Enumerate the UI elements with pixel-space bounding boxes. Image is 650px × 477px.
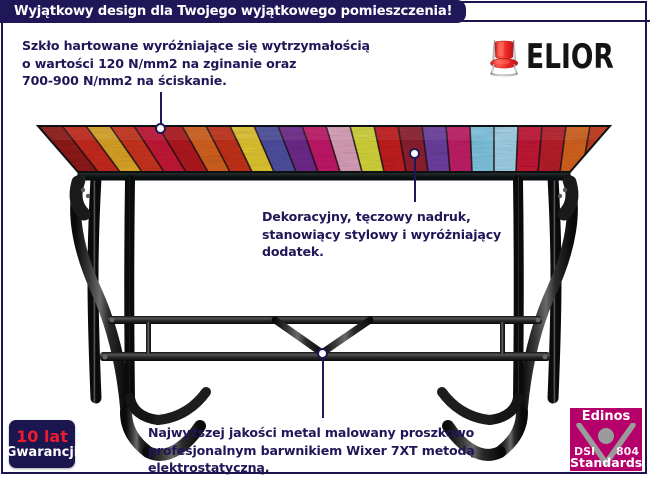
callout-dot-print[interactable] <box>409 148 420 159</box>
header-banner: Wyjątkowy design dla Twojego wyjątkowego… <box>0 0 466 23</box>
callout-print-line-2: stanowiący stylowy i wyróżniający <box>262 226 542 244</box>
callout-dot-glass[interactable] <box>155 123 166 134</box>
brand-wordmark: ELIOR <box>526 40 614 74</box>
glass-tabletop <box>38 126 610 180</box>
leader-line-metal <box>322 356 324 418</box>
certification-badge: Edinos DSI 804 Standards <box>570 408 642 471</box>
product-infographic: Wyjątkowy design dla Twojego wyjątkowego… <box>0 0 650 477</box>
callout-glass-line-3: 700-900 N/mm2 na ściskanie. <box>22 72 442 90</box>
warranty-years: 10 lat <box>16 428 68 445</box>
callout-dot-metal[interactable] <box>317 348 328 359</box>
callout-metal-line-3: elektrostatyczną. <box>148 459 538 477</box>
callout-metal-line-1: Najwyższej jakości metal malowany proszk… <box>148 424 538 442</box>
callout-text-metal: Najwyższej jakości metal malowany proszk… <box>148 424 538 477</box>
red-chair-icon <box>487 23 522 91</box>
certification-standards: Standards <box>570 455 642 470</box>
warranty-badge: 10 lat Gwarancji <box>9 420 75 468</box>
warranty-label: Gwarancji <box>6 445 79 460</box>
brand-logo[interactable]: ELIOR <box>487 22 639 92</box>
callout-glass-line-1: Szkło hartowane wyróżniające się wytrzym… <box>22 37 442 55</box>
callout-glass-line-2: o wartości 120 N/mm2 na zginanie oraz <box>22 55 442 73</box>
callout-metal-line-2: profesjonalnym barwnikiem Wixer 7XT meto… <box>148 442 538 460</box>
callout-print-line-3: dodatek. <box>262 243 542 261</box>
leader-line-print <box>414 154 416 202</box>
callout-print-line-1: Dekoracyjny, tęczowy nadruk, <box>262 208 542 226</box>
callout-text-glass: Szkło hartowane wyróżniające się wytrzym… <box>22 37 442 90</box>
callout-text-print: Dekoracyjny, tęczowy nadruk, stanowiący … <box>262 208 542 261</box>
certification-name: Edinos <box>570 409 642 424</box>
page-title: Wyjątkowy design dla Twojego wyjątkowego… <box>14 4 452 19</box>
